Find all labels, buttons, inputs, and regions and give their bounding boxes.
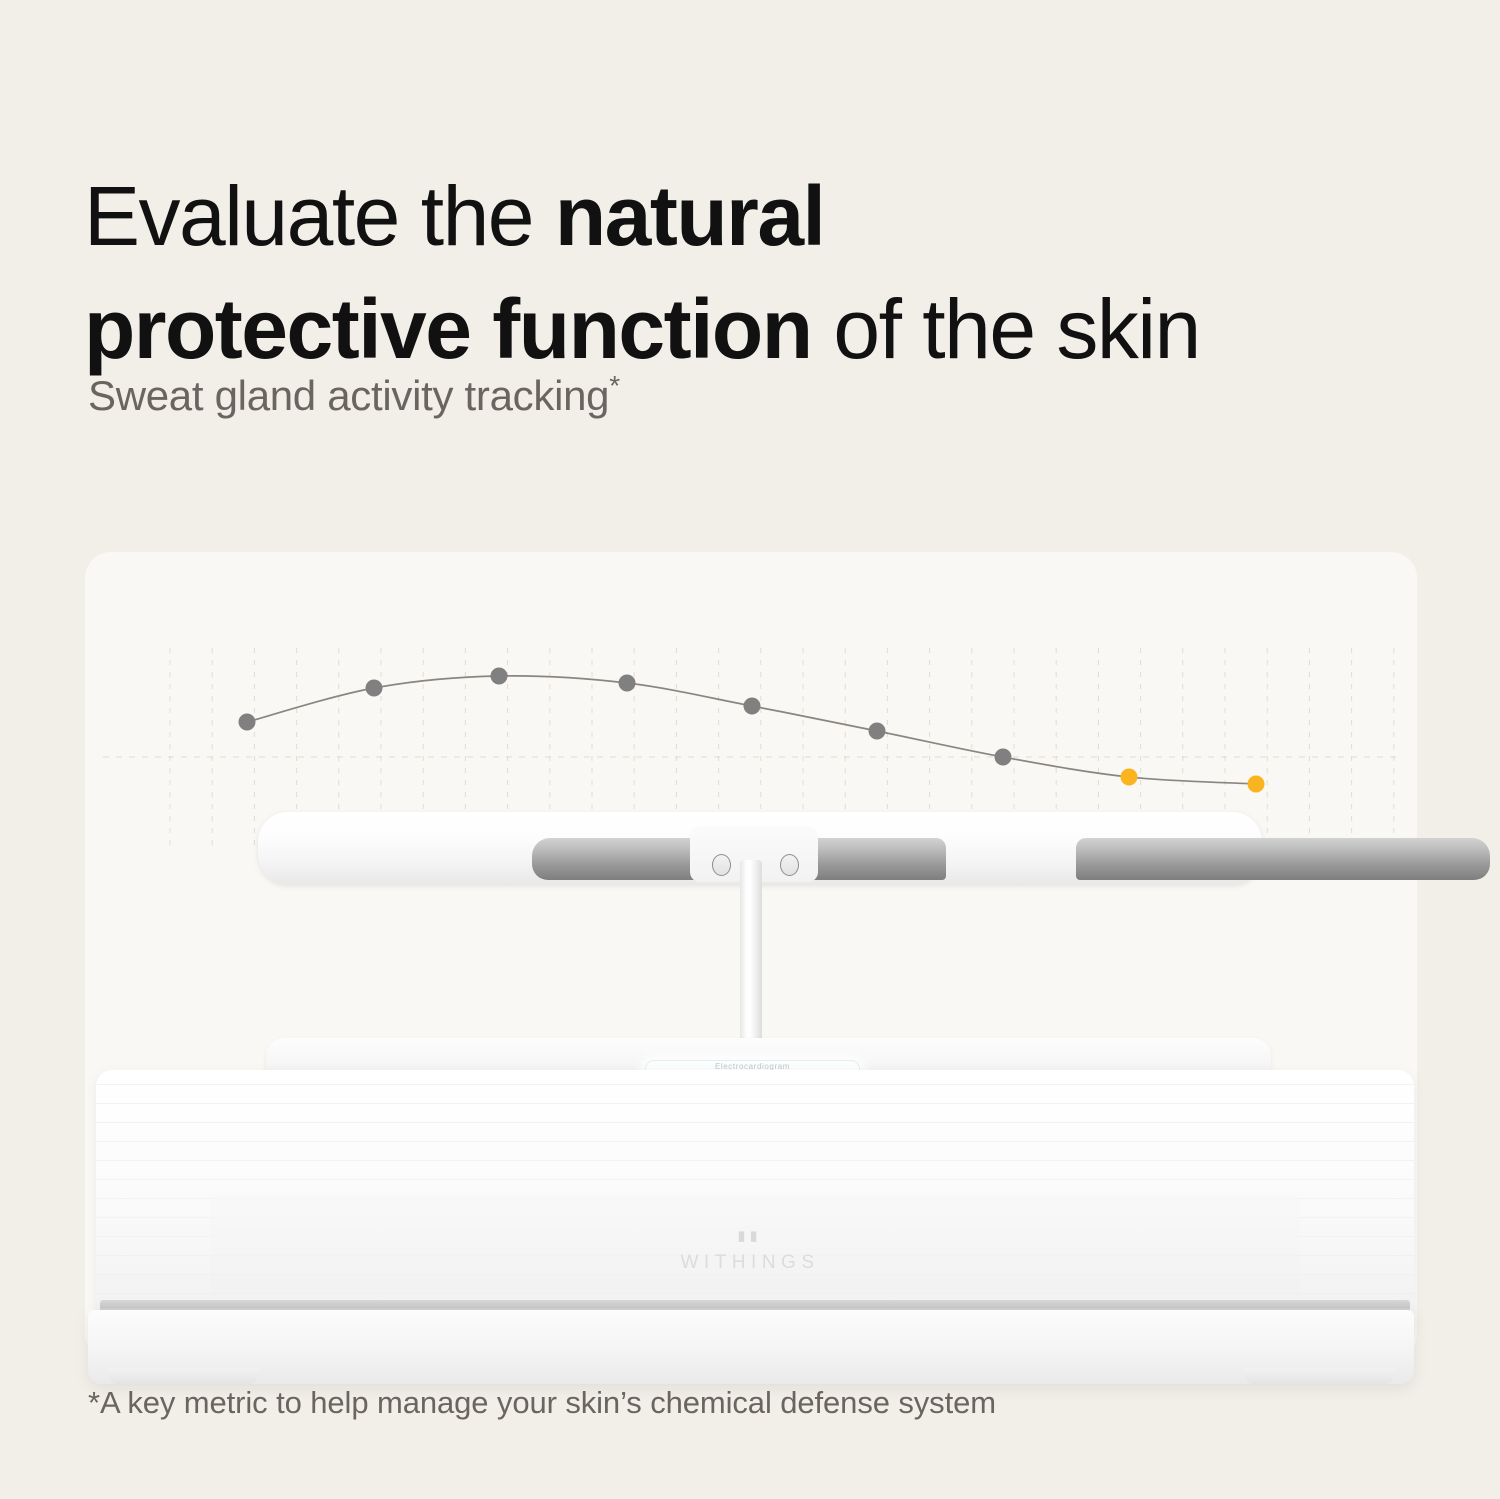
promo-page: Evaluate the natural protective function… xyxy=(0,0,1500,1499)
chart-point xyxy=(619,675,636,692)
chart-point xyxy=(995,749,1012,766)
scale-foot-right xyxy=(1244,1368,1394,1384)
chart-svg xyxy=(85,552,1417,1360)
chart-point xyxy=(491,668,508,685)
product-chart-card xyxy=(85,552,1417,1360)
chart-point xyxy=(869,723,886,740)
headline-line-1-normal: Evaluate the xyxy=(84,169,555,263)
sweat-activity-chart xyxy=(85,552,1417,1360)
headline-line-2-bold: protective function xyxy=(84,282,812,376)
subtitle-asterisk: * xyxy=(609,370,620,401)
chart-gridlines-vertical xyxy=(170,648,1394,852)
page-subtitle: Sweat gland activity tracking* xyxy=(88,368,620,424)
headline-line-1-bold: natural xyxy=(555,169,825,263)
chart-curve xyxy=(247,676,1256,784)
chart-point xyxy=(1121,769,1138,786)
chart-point xyxy=(366,680,383,697)
chart-point xyxy=(744,698,761,715)
chart-point xyxy=(239,714,256,731)
headline-line-2-normal: of the skin xyxy=(812,282,1200,376)
chart-point xyxy=(1248,776,1265,793)
chart-data-points xyxy=(239,668,1265,793)
footnote: *A key metric to help manage your skin’s… xyxy=(88,1382,996,1424)
subtitle-text: Sweat gland activity tracking xyxy=(88,372,609,419)
page-title: Evaluate the natural protective function… xyxy=(84,160,1424,386)
